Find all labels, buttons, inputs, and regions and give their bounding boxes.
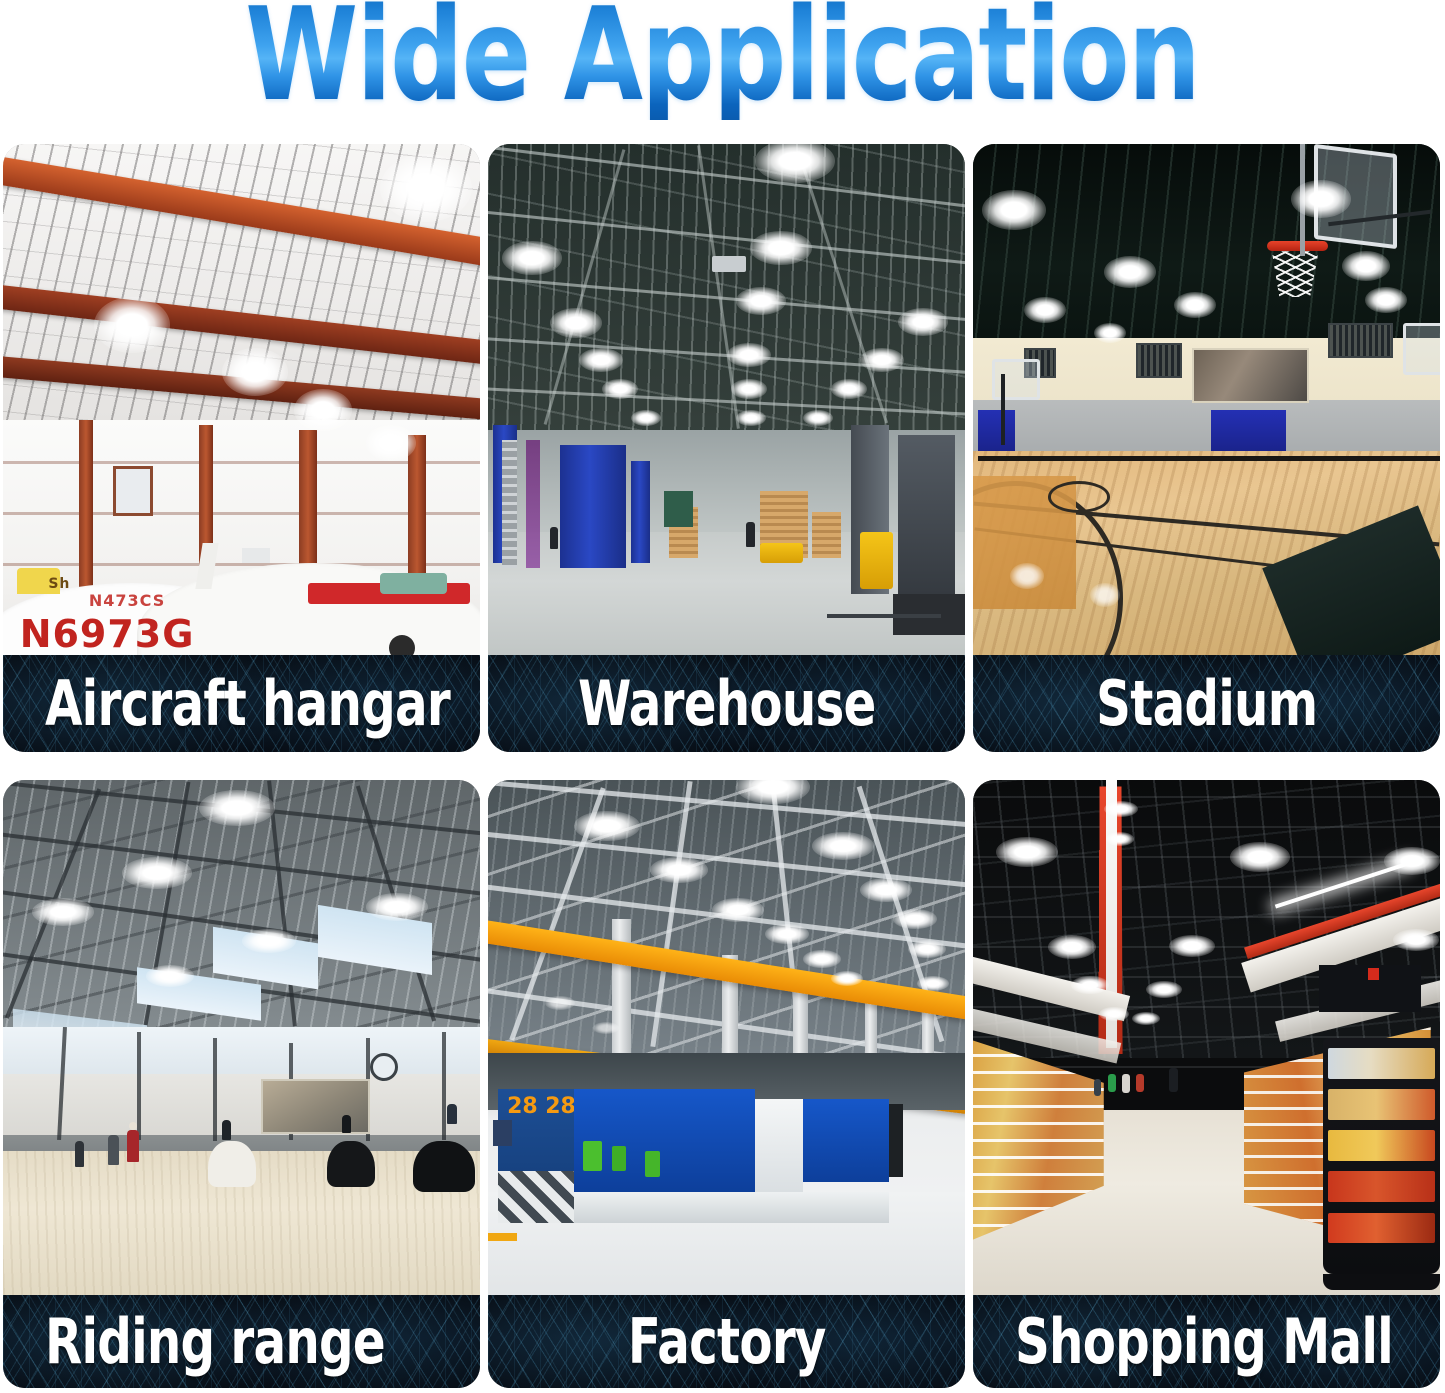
page-title: Wide Application bbox=[246, 0, 1200, 120]
caption-label: Riding range bbox=[45, 1311, 385, 1373]
factory-photo: 28 28 bbox=[488, 780, 965, 1295]
stadium-photo bbox=[973, 144, 1440, 655]
caption-bar-factory: Factory bbox=[488, 1295, 965, 1388]
gallery-tile-aircraft-hangar[interactable]: N6973G N473CS Sh Aircraft hangar bbox=[3, 144, 480, 752]
caption-label: Aircraft hangar bbox=[45, 673, 450, 735]
caption-bar-riding-range: Riding range bbox=[3, 1295, 480, 1388]
gallery-tile-shopping-mall[interactable]: Shopping Mall bbox=[973, 780, 1440, 1388]
gallery-tile-warehouse[interactable]: Warehouse bbox=[488, 144, 965, 752]
wide-application-poster: Wide Application bbox=[0, 0, 1445, 1393]
caption-label: Factory bbox=[628, 1311, 826, 1373]
shopping-mall-photo bbox=[973, 780, 1440, 1295]
poster-title-banner: Wide Application bbox=[0, 0, 1445, 120]
aircraft-hangar-photo: N6973G N473CS Sh bbox=[3, 144, 480, 655]
application-gallery-grid: N6973G N473CS Sh Aircraft hangar bbox=[3, 144, 1441, 1388]
gallery-tile-factory[interactable]: 28 28 bbox=[488, 780, 965, 1388]
caption-label: Shopping Mall bbox=[1015, 1311, 1393, 1373]
riding-range-photo bbox=[3, 780, 480, 1295]
caption-bar-warehouse: Warehouse bbox=[488, 655, 965, 752]
gallery-tile-riding-range[interactable]: Riding range bbox=[3, 780, 480, 1388]
caption-label: Stadium bbox=[1096, 673, 1317, 735]
caption-bar-stadium: Stadium bbox=[973, 655, 1440, 752]
gallery-tile-stadium[interactable]: Stadium bbox=[973, 144, 1440, 752]
caption-bar-shopping-mall: Shopping Mall bbox=[973, 1295, 1440, 1388]
warehouse-photo bbox=[488, 144, 965, 655]
caption-bar-aircraft-hangar: Aircraft hangar bbox=[3, 655, 480, 752]
caption-label: Warehouse bbox=[578, 673, 876, 735]
